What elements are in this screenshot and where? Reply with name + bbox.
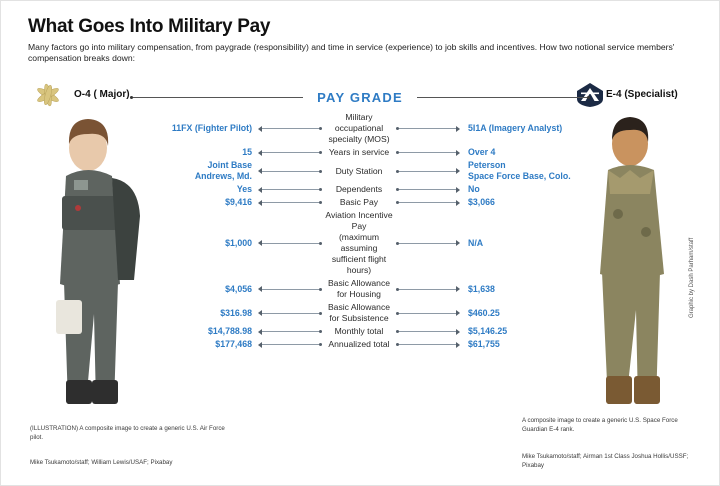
air-force-pilot-photo [26,104,176,404]
comparison-row: YesDependentsNo [130,184,590,195]
row-connector-left [258,310,322,316]
comparison-row: $1,000Aviation Incentive Pay (maximum as… [130,210,590,276]
row-connector-left [258,150,322,156]
row-connector-right [396,168,460,174]
row-connector-left [258,200,322,206]
row-connector-right [396,187,460,193]
row-connector-left [258,342,322,348]
comparison-row: $9,416Basic Pay$3,066 [130,197,590,208]
row-connector-right [396,329,460,335]
row-connector-left [258,168,322,174]
row-label: Annualized total [322,339,396,350]
paygrade-header: PAY GRADE [130,88,590,106]
paygrade-label: PAY GRADE [303,90,417,105]
row-connector-right [396,286,460,292]
row-connector-left [258,240,322,246]
space-force-guardian-photo [560,104,700,404]
comparison-row: $4,056Basic Allowance for Housing$1,638 [130,278,590,300]
row-label: Years in service [322,147,396,158]
row-label: Military occupational specialty (MOS) [322,112,396,145]
row-label: Monthly total [322,326,396,337]
paygrade-dot-right [587,96,590,99]
row-connector-left [258,286,322,292]
row-connector-left [258,187,322,193]
page-title: What Goes Into Military Pay [28,16,270,38]
row-label: Duty Station [322,166,396,177]
rank-label-right: E-4 (Specialist) [606,89,678,100]
paygrade-rule-right [417,97,587,98]
page-subtitle: Many factors go into military compensati… [28,42,694,65]
comparison-row: 15Years in serviceOver 4 [130,147,590,158]
comparison-row: $14,788.98Monthly total$5,146.25 [130,326,590,337]
comparison-row: $177,468Annualized total$61,755 [130,339,590,350]
graphic-credit: Graphic by Dash Parham/staff [689,238,695,318]
caption-right-text: A composite image to create a generic U.… [522,416,697,434]
comparison-row: 11FX (Fighter Pilot)Military occupationa… [130,112,590,145]
comparison-rows: 11FX (Fighter Pilot)Military occupationa… [130,112,590,352]
row-connector-right [396,342,460,348]
row-connector-right [396,310,460,316]
comparison-row: Joint Base Andrews, Md.Duty StationPeter… [130,160,590,182]
row-connector-right [396,126,460,132]
paygrade-rule-left [133,97,303,98]
caption-right-credit: Mike Tsukamoto/staff; Airman 1st Class J… [522,452,702,470]
row-label: Aviation Incentive Pay (maximum assuming… [322,210,396,276]
caption-left-text: (ILLUSTRATION) A composite image to crea… [30,424,225,442]
row-label: Basic Allowance for Housing [322,278,396,300]
row-connector-right [396,150,460,156]
row-label: Basic Pay [322,197,396,208]
rank-label-left: O-4 ( Major) [74,89,130,100]
row-label: Dependents [322,184,396,195]
row-connector-right [396,200,460,206]
caption-left-credit: Mike Tsukamoto/staff; William Lewis/USAF… [30,458,240,467]
comparison-row: $316.98Basic Allowance for Subsistence$4… [130,302,590,324]
row-connector-left [258,126,322,132]
row-connector-right [396,240,460,246]
row-label: Basic Allowance for Subsistence [322,302,396,324]
row-connector-left [258,329,322,335]
